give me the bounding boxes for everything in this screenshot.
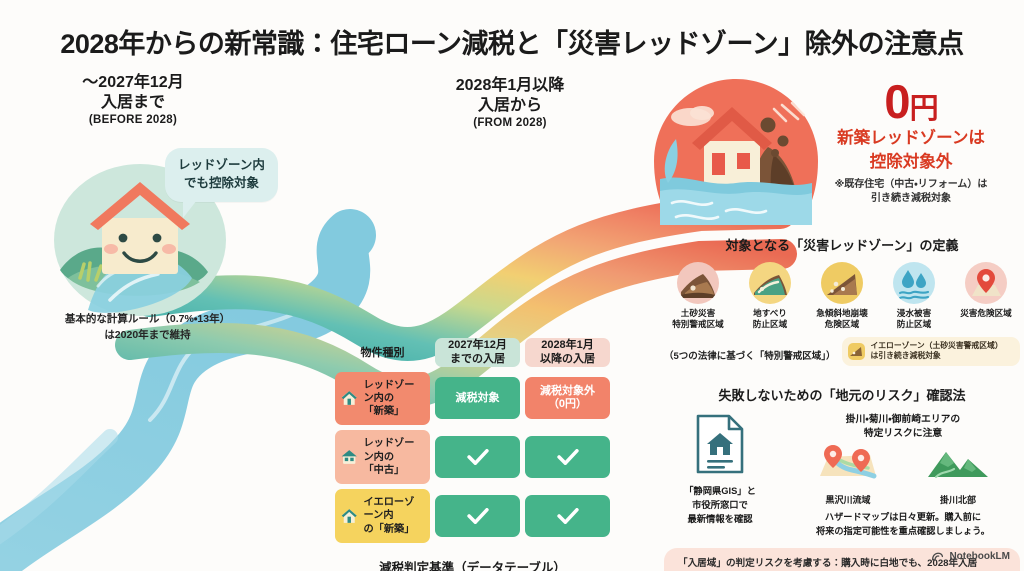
yen-unit: 円 xyxy=(910,93,938,125)
definition-label-3-line2: 防止区域 xyxy=(880,319,948,330)
row0-col1-value: 減税対象 xyxy=(456,392,500,406)
watermark-label: NotebookLM xyxy=(949,551,1010,562)
row2-line1: イエローゾーン内 xyxy=(363,497,414,521)
infographic-canvas: 2028年からの新常識：住宅ローン減税と「災害レッドゾーン」除外の注意点 xyxy=(0,0,1024,571)
row1-line2: 「中古」 xyxy=(363,465,404,476)
before-speech-bubble: レッドゾーン内 でも控除対象 xyxy=(165,148,278,202)
table-header-col2: 2028年1月 以降の入居 xyxy=(525,338,610,367)
row0-line1: レッドゾーン内の xyxy=(363,380,414,404)
before-caption-line2: は2020年まで維持 xyxy=(0,328,295,344)
red-zone-definitions: 対象となる「災害レッドゾーン」の定義 土砂災害 特別警戒区域 地すべり 防止区域 xyxy=(664,235,1020,366)
before-caption: 基本的な計算ルール（0.7%・13年） は2020年まで維持 xyxy=(0,312,295,344)
definition-label-4-line1: 災害危険区域 xyxy=(952,308,1020,319)
area-item-0: 黒沢川流域 xyxy=(804,444,892,506)
gis-column: 「静岡県GIS」と 市役所窓口で 最新情報を確認 xyxy=(664,413,776,539)
area-head-line1: 掛川・菊川・御前崎エリアの xyxy=(786,413,1020,427)
checks-body: 「静岡県GIS」と 市役所窓口で 最新情報を確認 掛川・菊川・御前崎エリアの 特… xyxy=(664,413,1020,539)
zero-note-line2: 引き続き減税対象 xyxy=(800,192,1022,207)
bubble-line2: でも控除対象 xyxy=(178,175,265,193)
before-caption-line1: 基本的な計算ルール（0.7%・13年） xyxy=(0,312,295,328)
area-head: 掛川・菊川・御前崎エリアの 特定リスクに注意 xyxy=(786,413,1020,440)
after-line1: 2028年1月以降 xyxy=(395,76,625,96)
col2-line1: 2028年1月 xyxy=(525,338,610,352)
yellow-zone-note: イエローゾーン（土砂災害警戒区域） は引き続き減税対象 xyxy=(842,337,1020,366)
after-line2: 入居から xyxy=(395,96,625,116)
table-row-1-label: レッドゾーン内の 「中古」 xyxy=(363,437,424,477)
area-icons: 黒沢川流域 掛川北部 xyxy=(786,444,1020,506)
zero-note-line1: ※既存住宅（中古・リフォーム）は xyxy=(800,178,1022,193)
row0-col2-line1: 減税対象外 xyxy=(540,385,595,397)
col1-line1: 2027年12月 xyxy=(435,338,520,352)
zero-yen-block: 0円 新築レッドゾーンは 控除対象外 ※既存住宅（中古・リフォーム）は 引き続き… xyxy=(800,80,1022,207)
before-line3: (BEFORE 2028) xyxy=(18,114,248,126)
table-header-row-label: 物件種別 xyxy=(335,338,430,367)
check-icon xyxy=(467,508,489,524)
area-risk-column: 掛川・菊川・御前崎エリアの 特定リスクに注意 xyxy=(786,413,1020,539)
yellow-zone-icon xyxy=(848,343,865,360)
table-header-col1: 2027年12月 までの入居 xyxy=(435,338,520,367)
area-item-1: 掛川北部 xyxy=(914,444,1002,506)
map-pin-river-icon xyxy=(816,444,880,486)
bubble-line1: レッドゾーン内 xyxy=(178,157,265,175)
slope-slide-icon xyxy=(749,262,791,304)
col1-line2: までの入居 xyxy=(435,352,520,366)
row0-line2: 「新築」 xyxy=(363,406,404,417)
definitions-footer: （5つの法律に基づく「特別警戒区域」） イエローゾーン（土砂災害警戒区域） は引… xyxy=(664,337,1020,366)
col2-line2: 以降の入居 xyxy=(525,352,610,366)
steep-slope-icon xyxy=(821,262,863,304)
table-row-0-label: レッドゾーン内の 「新築」 xyxy=(363,379,424,419)
local-risk-check-section: 失敗しないための「地元のリスク」確認法 「静岡県GIS」と 市役所窓口で 最新情… xyxy=(664,385,1020,571)
zero-amount: 0円 xyxy=(800,80,1022,125)
yellow-zone-line2: は引き続き減税対象 xyxy=(871,351,1003,362)
area-foot: ハザードマップは日々更新。購入前に 将来の指定可能性を重点確認しましょう。 xyxy=(786,511,1020,539)
tax-decision-table-wrap: 物件種別 2027年12月 までの入居 2028年1月 以降の入居 xyxy=(330,333,615,571)
definition-label-2-line1: 急傾斜地崩壊 xyxy=(808,308,876,319)
mountain-icon xyxy=(926,444,990,486)
table-row-1-col2 xyxy=(525,430,610,484)
area-head-line2: 特定リスクに注意 xyxy=(786,427,1020,441)
check-icon xyxy=(467,449,489,465)
zero-number: 0 xyxy=(884,75,909,128)
zero-headline-line2: 控除対象外 xyxy=(800,152,1022,173)
area-foot-line1: ハザードマップは日々更新。購入前に xyxy=(786,511,1020,525)
gis-label-line2: 市役所窓口で xyxy=(664,499,776,513)
flood-water-icon xyxy=(893,262,935,304)
before-line2: 入居まで xyxy=(18,93,248,113)
before-line1: ～2027年12月 xyxy=(18,73,248,93)
definition-item-4: 災害危険区域 xyxy=(952,262,1020,331)
row2-col2-check xyxy=(525,495,610,537)
area-label-1: 掛川北部 xyxy=(914,493,1002,506)
table-row-2-label-cell: イエローゾーン内 の「新築」 xyxy=(335,489,430,543)
table-header-row: 物件種別 2027年12月 までの入居 2028年1月 以降の入居 xyxy=(335,338,610,367)
table-caption: 減税判定基準（データテーブル） xyxy=(330,557,615,571)
yellow-zone-new-house-icon xyxy=(341,505,357,527)
definition-item-0: 土砂災害 特別警戒区域 xyxy=(664,262,732,331)
check-icon xyxy=(557,449,579,465)
column-heading-before: ～2027年12月 入居まで (BEFORE 2028) xyxy=(18,73,248,126)
notebooklm-icon xyxy=(931,550,944,563)
yellow-zone-text: イエローゾーン（土砂災害警戒区域） は引き続き減税対象 xyxy=(871,341,1003,362)
row2-line2: の「新築」 xyxy=(363,524,414,535)
red-zone-new-house-icon xyxy=(341,387,357,409)
red-zone-used-house-icon xyxy=(341,446,357,468)
area-foot-line2: 将来の指定可能性を重点確認しましょう。 xyxy=(786,525,1020,539)
definitions-title: 対象となる「災害レッドゾーン」の定義 xyxy=(664,235,1020,254)
landslide-hazard-icon xyxy=(677,262,719,304)
table-row-1-label-cell: レッドゾーン内の 「中古」 xyxy=(335,430,430,484)
notebooklm-watermark: NotebookLM xyxy=(931,550,1010,563)
area-label-0: 黒沢川流域 xyxy=(804,493,892,506)
row1-line1: レッドゾーン内の xyxy=(363,438,414,462)
table-row: レッドゾーン内の 「新築」 減税対象 減税対象外 （0円） xyxy=(335,372,610,426)
definition-label-1-line1: 地すべり xyxy=(736,308,804,319)
table-row-0-col2: 減税対象外 （0円） xyxy=(525,372,610,426)
table-row-0-col1: 減税対象 xyxy=(435,372,520,426)
gis-label-line3: 最新情報を確認 xyxy=(664,513,776,527)
gis-label-line1: 「静岡県GIS」と xyxy=(664,485,776,499)
table-row-1-col1 xyxy=(435,430,520,484)
definition-label-1-line2: 防止区域 xyxy=(736,319,804,330)
table-row-2-col2 xyxy=(525,489,610,543)
flood-landslide-house-icon xyxy=(646,75,826,235)
definition-item-3: 浸水被害 防止区域 xyxy=(880,262,948,331)
definitions-icon-row: 土砂災害 特別警戒区域 地すべり 防止区域 急傾斜地崩壊 危険区域 xyxy=(664,262,1020,331)
zero-headline-line1: 新築レッドゾーンは xyxy=(800,128,1022,149)
row0-col2-line2: （0円） xyxy=(548,398,587,410)
after-line3: (FROM 2028) xyxy=(395,117,625,129)
definition-label-0-line1: 土砂災害 xyxy=(664,308,732,319)
checks-title: 失敗しないための「地元のリスク」確認法 xyxy=(664,385,1020,404)
table-row-2-label: イエローゾーン内 の「新築」 xyxy=(363,496,424,536)
document-house-icon xyxy=(693,413,747,475)
table-row: レッドゾーン内の 「中古」 xyxy=(335,430,610,484)
definition-label-2-line2: 危険区域 xyxy=(808,319,876,330)
row1-col2-check xyxy=(525,436,610,478)
gis-label: 「静岡県GIS」と 市役所窓口で 最新情報を確認 xyxy=(664,485,776,527)
row0-col2-value: 減税対象外 （0円） xyxy=(540,385,595,413)
check-icon xyxy=(557,508,579,524)
table-row-2-col1 xyxy=(435,489,520,543)
yellow-zone-line1: イエローゾーン（土砂災害警戒区域） xyxy=(871,341,1003,352)
law-note: （5つの法律に基づく「特別警戒区域」） xyxy=(664,348,836,362)
definition-label-3-line1: 浸水被害 xyxy=(880,308,948,319)
table-row-0-label-cell: レッドゾーン内の 「新築」 xyxy=(335,372,430,426)
row1-col1-check xyxy=(435,436,520,478)
tax-decision-table: 物件種別 2027年12月 までの入居 2028年1月 以降の入居 xyxy=(330,333,615,548)
table-row: イエローゾーン内 の「新築」 xyxy=(335,489,610,543)
danger-zone-pin-icon xyxy=(965,262,1007,304)
definition-label-0-line2: 特別警戒区域 xyxy=(664,319,732,330)
definition-item-2: 急傾斜地崩壊 危険区域 xyxy=(808,262,876,331)
column-heading-after: 2028年1月以降 入居から (FROM 2028) xyxy=(395,76,625,129)
row2-col1-check xyxy=(435,495,520,537)
definition-item-1: 地すべり 防止区域 xyxy=(736,262,804,331)
